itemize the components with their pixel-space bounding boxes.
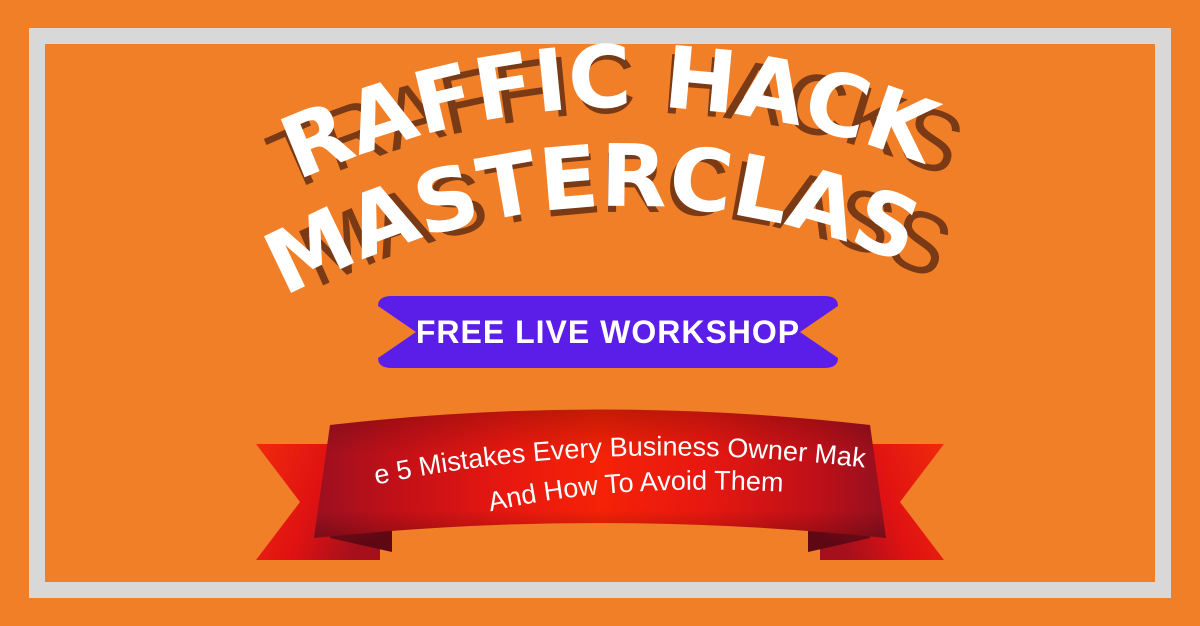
poster-canvas: The 5 Mistakes Every Business Owner Make… — [0, 0, 1200, 626]
poster-artwork: The 5 Mistakes Every Business Owner Make… — [0, 0, 1200, 626]
headline-graphic: TRAFFIC HACKS MASTERCLASS TRAFFIC HACKS … — [0, 0, 1200, 626]
